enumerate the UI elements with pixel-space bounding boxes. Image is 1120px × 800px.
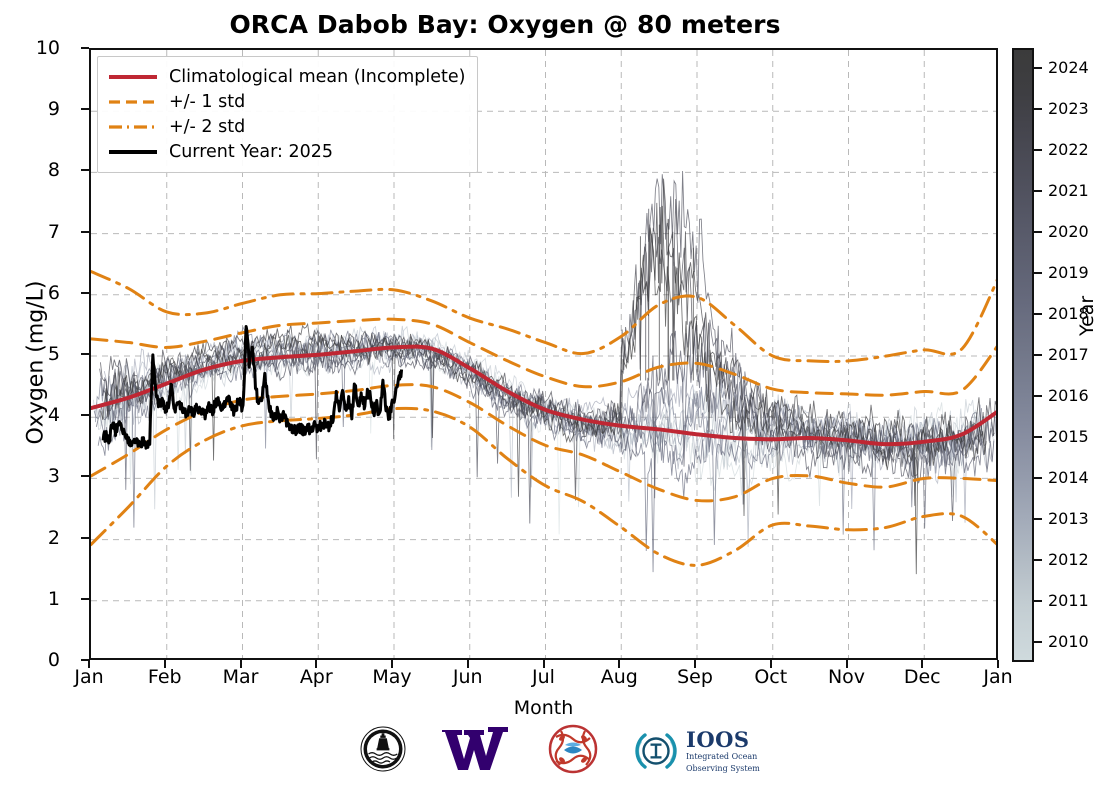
series-1-std	[91, 319, 998, 395]
y-tick-mark	[81, 475, 89, 477]
colorbar[interactable]: 2010201120122013201420152016201720182019…	[1012, 48, 1034, 662]
colorbar-tick-mark	[1034, 149, 1042, 151]
legend[interactable]: Climatological mean (Incomplete) +/- 1 s…	[97, 56, 478, 173]
y-tick-mark	[81, 353, 89, 355]
colorbar-tick-mark	[1034, 231, 1042, 233]
x-tick-label: Apr	[300, 666, 333, 688]
y-tick-label: 1	[0, 588, 60, 610]
orca-buoy-logo	[360, 726, 406, 776]
legend-swatch-dashed-orange	[108, 95, 158, 109]
y-tick-mark	[81, 231, 89, 233]
colorbar-tick-label: 2022	[1048, 140, 1089, 159]
colorbar-tick-mark	[1034, 559, 1042, 561]
x-tick-label: Jan	[74, 666, 103, 688]
y-tick-mark	[81, 292, 89, 294]
x-tick-label: Jun	[453, 666, 483, 688]
x-tick-label: Feb	[148, 666, 182, 688]
legend-swatch-dashdot-orange	[108, 120, 158, 134]
x-tick-mark	[88, 660, 90, 668]
colorbar-tick-label: 2020	[1048, 222, 1089, 241]
x-tick-mark	[618, 660, 620, 668]
legend-label-2-std: +/- 2 std	[169, 117, 245, 137]
colorbar-tick-label: 2013	[1048, 509, 1089, 528]
legend-item-2-std[interactable]: +/- 2 std	[108, 114, 465, 139]
colorbar-title: Year	[1076, 296, 1098, 336]
legend-label-climatological-mean: Climatological mean (Incomplete)	[169, 67, 465, 87]
series-2-std	[91, 408, 998, 565]
colorbar-gradient	[1012, 48, 1034, 662]
legend-item-1-std[interactable]: +/- 1 std	[108, 89, 465, 114]
y-tick-mark	[81, 47, 89, 49]
y-tick-mark	[81, 414, 89, 416]
x-tick-label: Jan	[983, 666, 1012, 688]
x-tick-label: Nov	[828, 666, 865, 688]
colorbar-tick-label: 2021	[1048, 181, 1089, 200]
colorbar-tick-mark	[1034, 354, 1042, 356]
series-2-std	[91, 272, 998, 362]
legend-item-current-year[interactable]: Current Year: 2025	[108, 139, 465, 164]
colorbar-tick-label: 2015	[1048, 427, 1089, 446]
colorbar-tick-mark	[1034, 436, 1042, 438]
x-tick-mark	[543, 660, 545, 668]
colorbar-tick-mark	[1034, 108, 1042, 110]
colorbar-tick-label: 2011	[1048, 591, 1089, 610]
colorbar-tick-label: 2012	[1048, 550, 1089, 569]
ioos-subtitle-line2: Observing System	[686, 764, 760, 774]
logo-strip: IOOS Integrated Ocean Observing System	[360, 720, 780, 782]
colorbar-tick-label: 2010	[1048, 632, 1089, 651]
x-tick-label: Jul	[532, 666, 555, 688]
y-axis-title: Oxygen (mg/L)	[24, 233, 49, 493]
legend-swatch-solid-black	[108, 145, 158, 159]
colorbar-tick-mark	[1034, 190, 1042, 192]
x-tick-mark	[997, 660, 999, 668]
colorbar-tick-mark	[1034, 313, 1042, 315]
y-tick-label: 0	[0, 649, 60, 671]
x-tick-label: Oct	[754, 666, 787, 688]
y-tick-label: 8	[0, 159, 60, 181]
y-tick-mark	[81, 169, 89, 171]
nanoos-logo	[548, 724, 598, 778]
y-tick-mark	[81, 537, 89, 539]
colorbar-tick-mark	[1034, 641, 1042, 643]
x-tick-mark	[770, 660, 772, 668]
ioos-subtitle-line1: Integrated Ocean	[686, 752, 760, 762]
x-tick-mark	[467, 660, 469, 668]
colorbar-tick-mark	[1034, 600, 1042, 602]
colorbar-tick-mark	[1034, 395, 1042, 397]
colorbar-tick-label: 2017	[1048, 345, 1089, 364]
y-tick-label: 10	[0, 37, 60, 59]
y-tick-label: 2	[0, 527, 60, 549]
legend-item-climatological-mean[interactable]: Climatological mean (Incomplete)	[108, 64, 465, 89]
x-tick-label: Dec	[904, 666, 941, 688]
colorbar-tick-label: 2014	[1048, 468, 1089, 487]
series-climatological-mean-incomplete	[91, 347, 998, 445]
y-tick-label: 9	[0, 98, 60, 120]
x-tick-mark	[391, 660, 393, 668]
x-tick-mark	[846, 660, 848, 668]
colorbar-tick-mark	[1034, 67, 1042, 69]
colorbar-tick-label: 2019	[1048, 263, 1089, 282]
colorbar-tick-mark	[1034, 272, 1042, 274]
y-tick-mark	[81, 598, 89, 600]
x-tick-label: Sep	[677, 666, 713, 688]
colorbar-tick-mark	[1034, 518, 1042, 520]
x-tick-mark	[164, 660, 166, 668]
x-tick-mark	[694, 660, 696, 668]
legend-label-1-std: +/- 1 std	[169, 92, 245, 112]
ioos-logo: IOOS Integrated Ocean Observing System	[632, 729, 760, 774]
x-tick-mark	[921, 660, 923, 668]
x-tick-mark	[240, 660, 242, 668]
legend-label-current-year: Current Year: 2025	[169, 142, 333, 162]
ioos-wordmark: IOOS	[686, 729, 760, 750]
uw-logo	[440, 725, 514, 777]
colorbar-tick-label: 2024	[1048, 58, 1089, 77]
x-tick-label: Aug	[601, 666, 638, 688]
page-title: ORCA Dabob Bay: Oxygen @ 80 meters	[0, 10, 1010, 39]
x-axis-title: Month	[89, 697, 998, 719]
colorbar-tick-mark	[1034, 477, 1042, 479]
x-tick-label: Mar	[223, 666, 259, 688]
legend-swatch-solid-red	[108, 70, 158, 84]
y-tick-mark	[81, 108, 89, 110]
x-tick-mark	[315, 660, 317, 668]
x-tick-label: May	[372, 666, 411, 688]
colorbar-tick-label: 2016	[1048, 386, 1089, 405]
colorbar-tick-label: 2023	[1048, 99, 1089, 118]
